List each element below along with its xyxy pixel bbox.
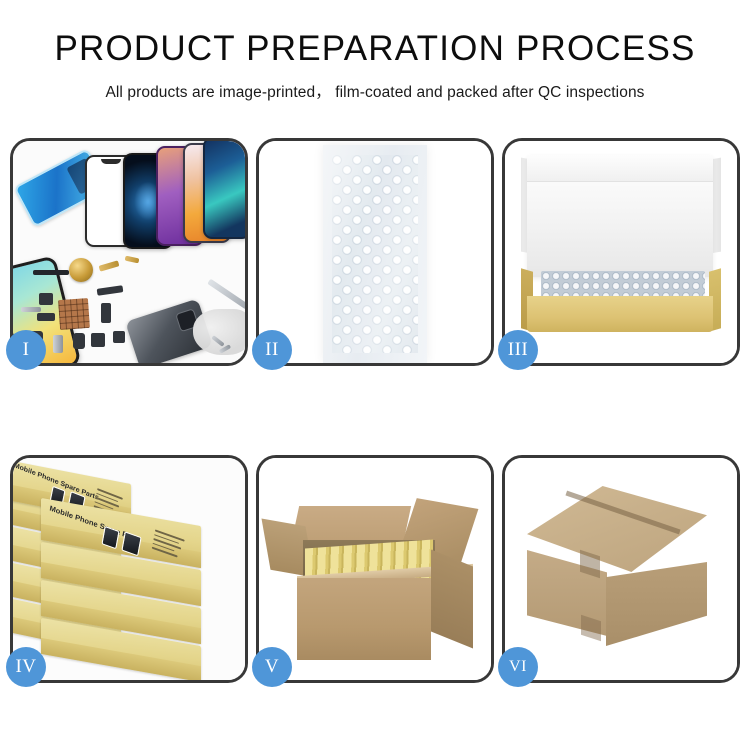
carton-front-panel (297, 578, 431, 660)
sealed-carton-illustration (505, 458, 737, 680)
gold-coil-icon (69, 258, 93, 282)
phones-and-parts-illustration (13, 141, 245, 363)
step-image-3 (505, 141, 737, 363)
step-card-4: Mobile Phone Spare Parts Mobile Phone Sp… (10, 455, 248, 683)
product-preparation-page: PRODUCT PREPARATION PROCESS All products… (0, 0, 750, 750)
page-title: PRODUCT PREPARATION PROCESS (0, 30, 750, 69)
battery-connector-icon (101, 303, 111, 323)
button-part-icon (91, 333, 105, 347)
process-step-grid: I II (10, 138, 740, 683)
step-badge-3: III (498, 330, 538, 370)
box-stack: Mobile Phone Spare Parts Mobile Phone Sp… (13, 464, 245, 680)
vibrator-part-icon (73, 333, 85, 349)
flex-cable-icon (97, 285, 124, 296)
teal-phone-icon (203, 141, 245, 239)
black-strip-part-icon (33, 270, 69, 275)
step-card-5: V (256, 455, 494, 683)
step-badge-1: I (6, 330, 46, 370)
carton-right-panel (606, 562, 707, 646)
step-badge-4: IV (6, 647, 46, 687)
inner-box-illustration (505, 141, 737, 363)
metal-bracket-icon (21, 307, 41, 312)
step-card-6: VI (502, 455, 740, 683)
step-image-2 (259, 141, 491, 363)
open-carton-illustration (259, 458, 491, 680)
plastic-sheen (332, 155, 418, 353)
carton-side-panel (431, 550, 473, 649)
step-card-3: III (502, 138, 740, 366)
step-badge-2: II (252, 330, 292, 370)
connector-part-icon (39, 293, 53, 305)
chip-array-icon (58, 298, 90, 330)
gold-small-part-icon (125, 256, 140, 264)
step-badge-5: V (252, 647, 292, 687)
camera-module-icon (37, 313, 55, 321)
step-card-2: II (256, 138, 494, 366)
page-header: PRODUCT PREPARATION PROCESS All products… (0, 0, 750, 102)
step-card-1: I (10, 138, 248, 366)
stacked-boxes-illustration: Mobile Phone Spare Parts Mobile Phone Sp… (13, 458, 245, 680)
step-image-6 (505, 458, 737, 680)
step-badge-6: VI (498, 647, 538, 687)
hand-icon (193, 309, 245, 355)
white-box-lid-icon (527, 155, 713, 277)
step-image-5 (259, 458, 491, 680)
step-image-1 (13, 141, 245, 363)
page-subtitle: All products are image-printed， film-coa… (0, 80, 750, 102)
step-image-4: Mobile Phone Spare Parts Mobile Phone Sp… (13, 458, 245, 680)
gold-flex-part-icon (99, 260, 120, 271)
bubble-wrap-illustration (259, 141, 491, 363)
bubble-wrapped-contents-icon (541, 271, 705, 299)
kraft-box-front (527, 296, 713, 332)
sim-tray-icon (113, 331, 125, 343)
sim-pin-icon (53, 335, 63, 353)
tweezers-icon (207, 279, 245, 310)
